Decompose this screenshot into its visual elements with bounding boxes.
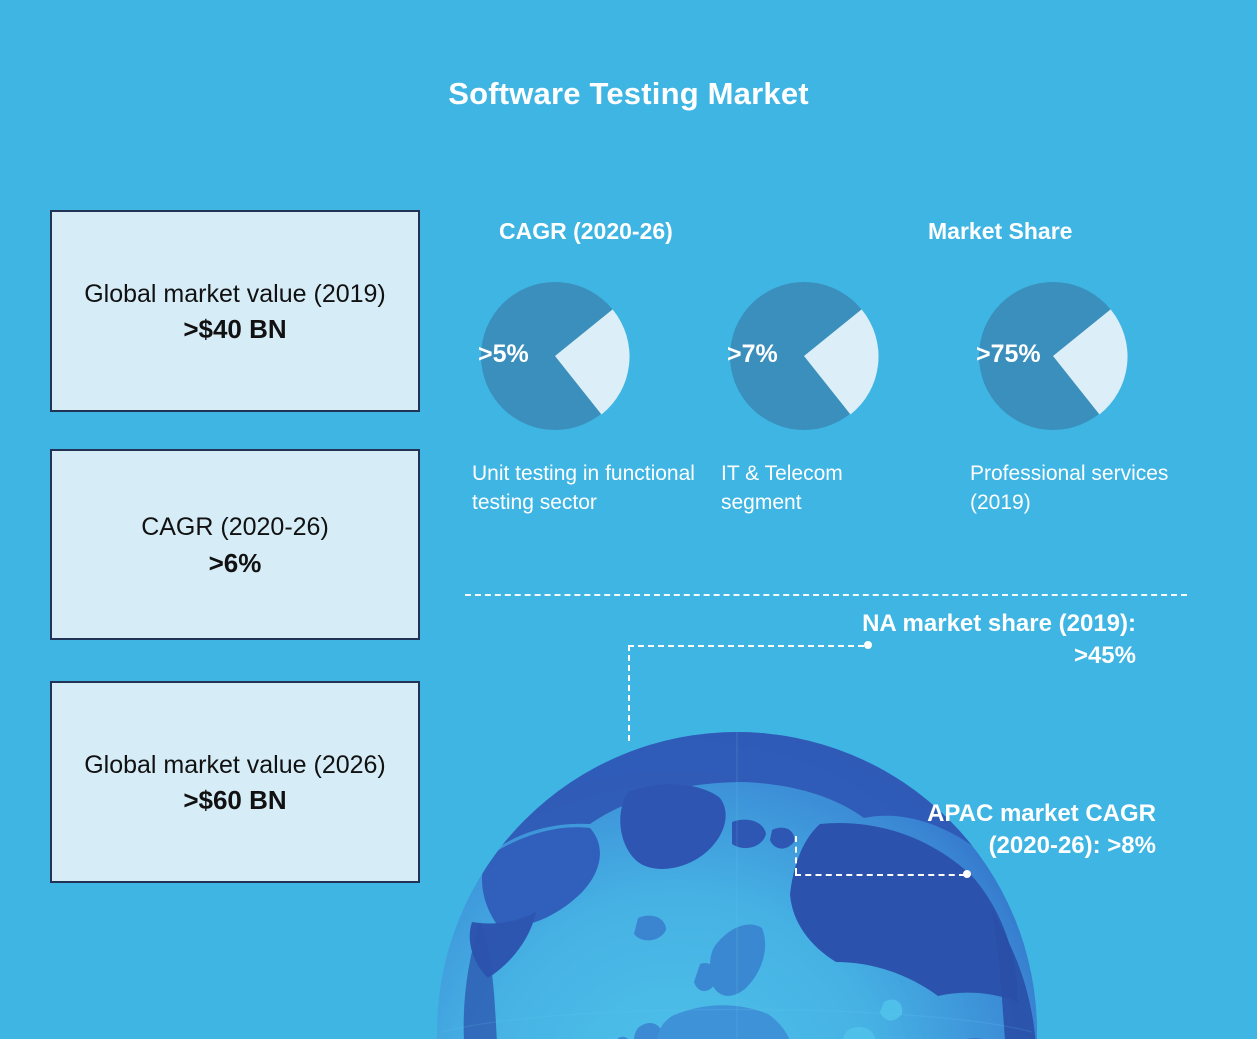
infographic-canvas: Software Testing Market Global market va… — [0, 0, 1257, 1039]
pie-group-professional-services: >75% Professional services (2019) — [965, 282, 1141, 430]
pie-value-label: >75% — [976, 340, 1041, 369]
section-divider — [465, 594, 1187, 596]
stat-box-label: Global market value (2019) — [66, 277, 404, 313]
section-heading-market-share: Market Share — [928, 218, 1072, 245]
apac-connector-dot — [963, 870, 971, 878]
stat-box-value: >6% — [209, 548, 262, 579]
apac-connector-vertical — [795, 836, 797, 874]
pie-value-label: >7% — [727, 340, 778, 369]
pie-group-it-telecom: >7% IT & Telecom segment — [716, 282, 892, 430]
globe-annotation-na-market-share: NA market share (2019): >45% — [836, 608, 1136, 671]
pie-caption: IT & Telecom segment — [721, 460, 921, 517]
stat-box-global-market-value-2019: Global market value (2019) >$40 BN — [50, 210, 420, 412]
page-title: Software Testing Market — [0, 76, 1257, 112]
stat-box-value: >$40 BN — [183, 314, 286, 345]
na-connector-vertical — [628, 645, 630, 741]
section-heading-cagr: CAGR (2020-26) — [499, 218, 673, 245]
apac-connector-horizontal — [795, 874, 965, 876]
stat-box-global-market-value-2026: Global market value (2026) >$60 BN — [50, 681, 420, 883]
globe-annotation-apac-cagr: APAC market CAGR (2020-26): >8% — [856, 798, 1156, 861]
stat-box-value: >$60 BN — [183, 785, 286, 816]
stat-box-label: CAGR (2020-26) — [123, 510, 347, 546]
pie-group-unit-testing: >5% Unit testing in functional testing s… — [467, 282, 643, 430]
stat-box-cagr: CAGR (2020-26) >6% — [50, 449, 420, 640]
na-connector-horizontal — [628, 645, 864, 647]
pie-caption: Unit testing in functional testing secto… — [472, 460, 702, 517]
stat-box-label: Global market value (2026) — [66, 748, 404, 784]
pie-value-label: >5% — [478, 340, 529, 369]
pie-caption: Professional services (2019) — [970, 460, 1185, 517]
